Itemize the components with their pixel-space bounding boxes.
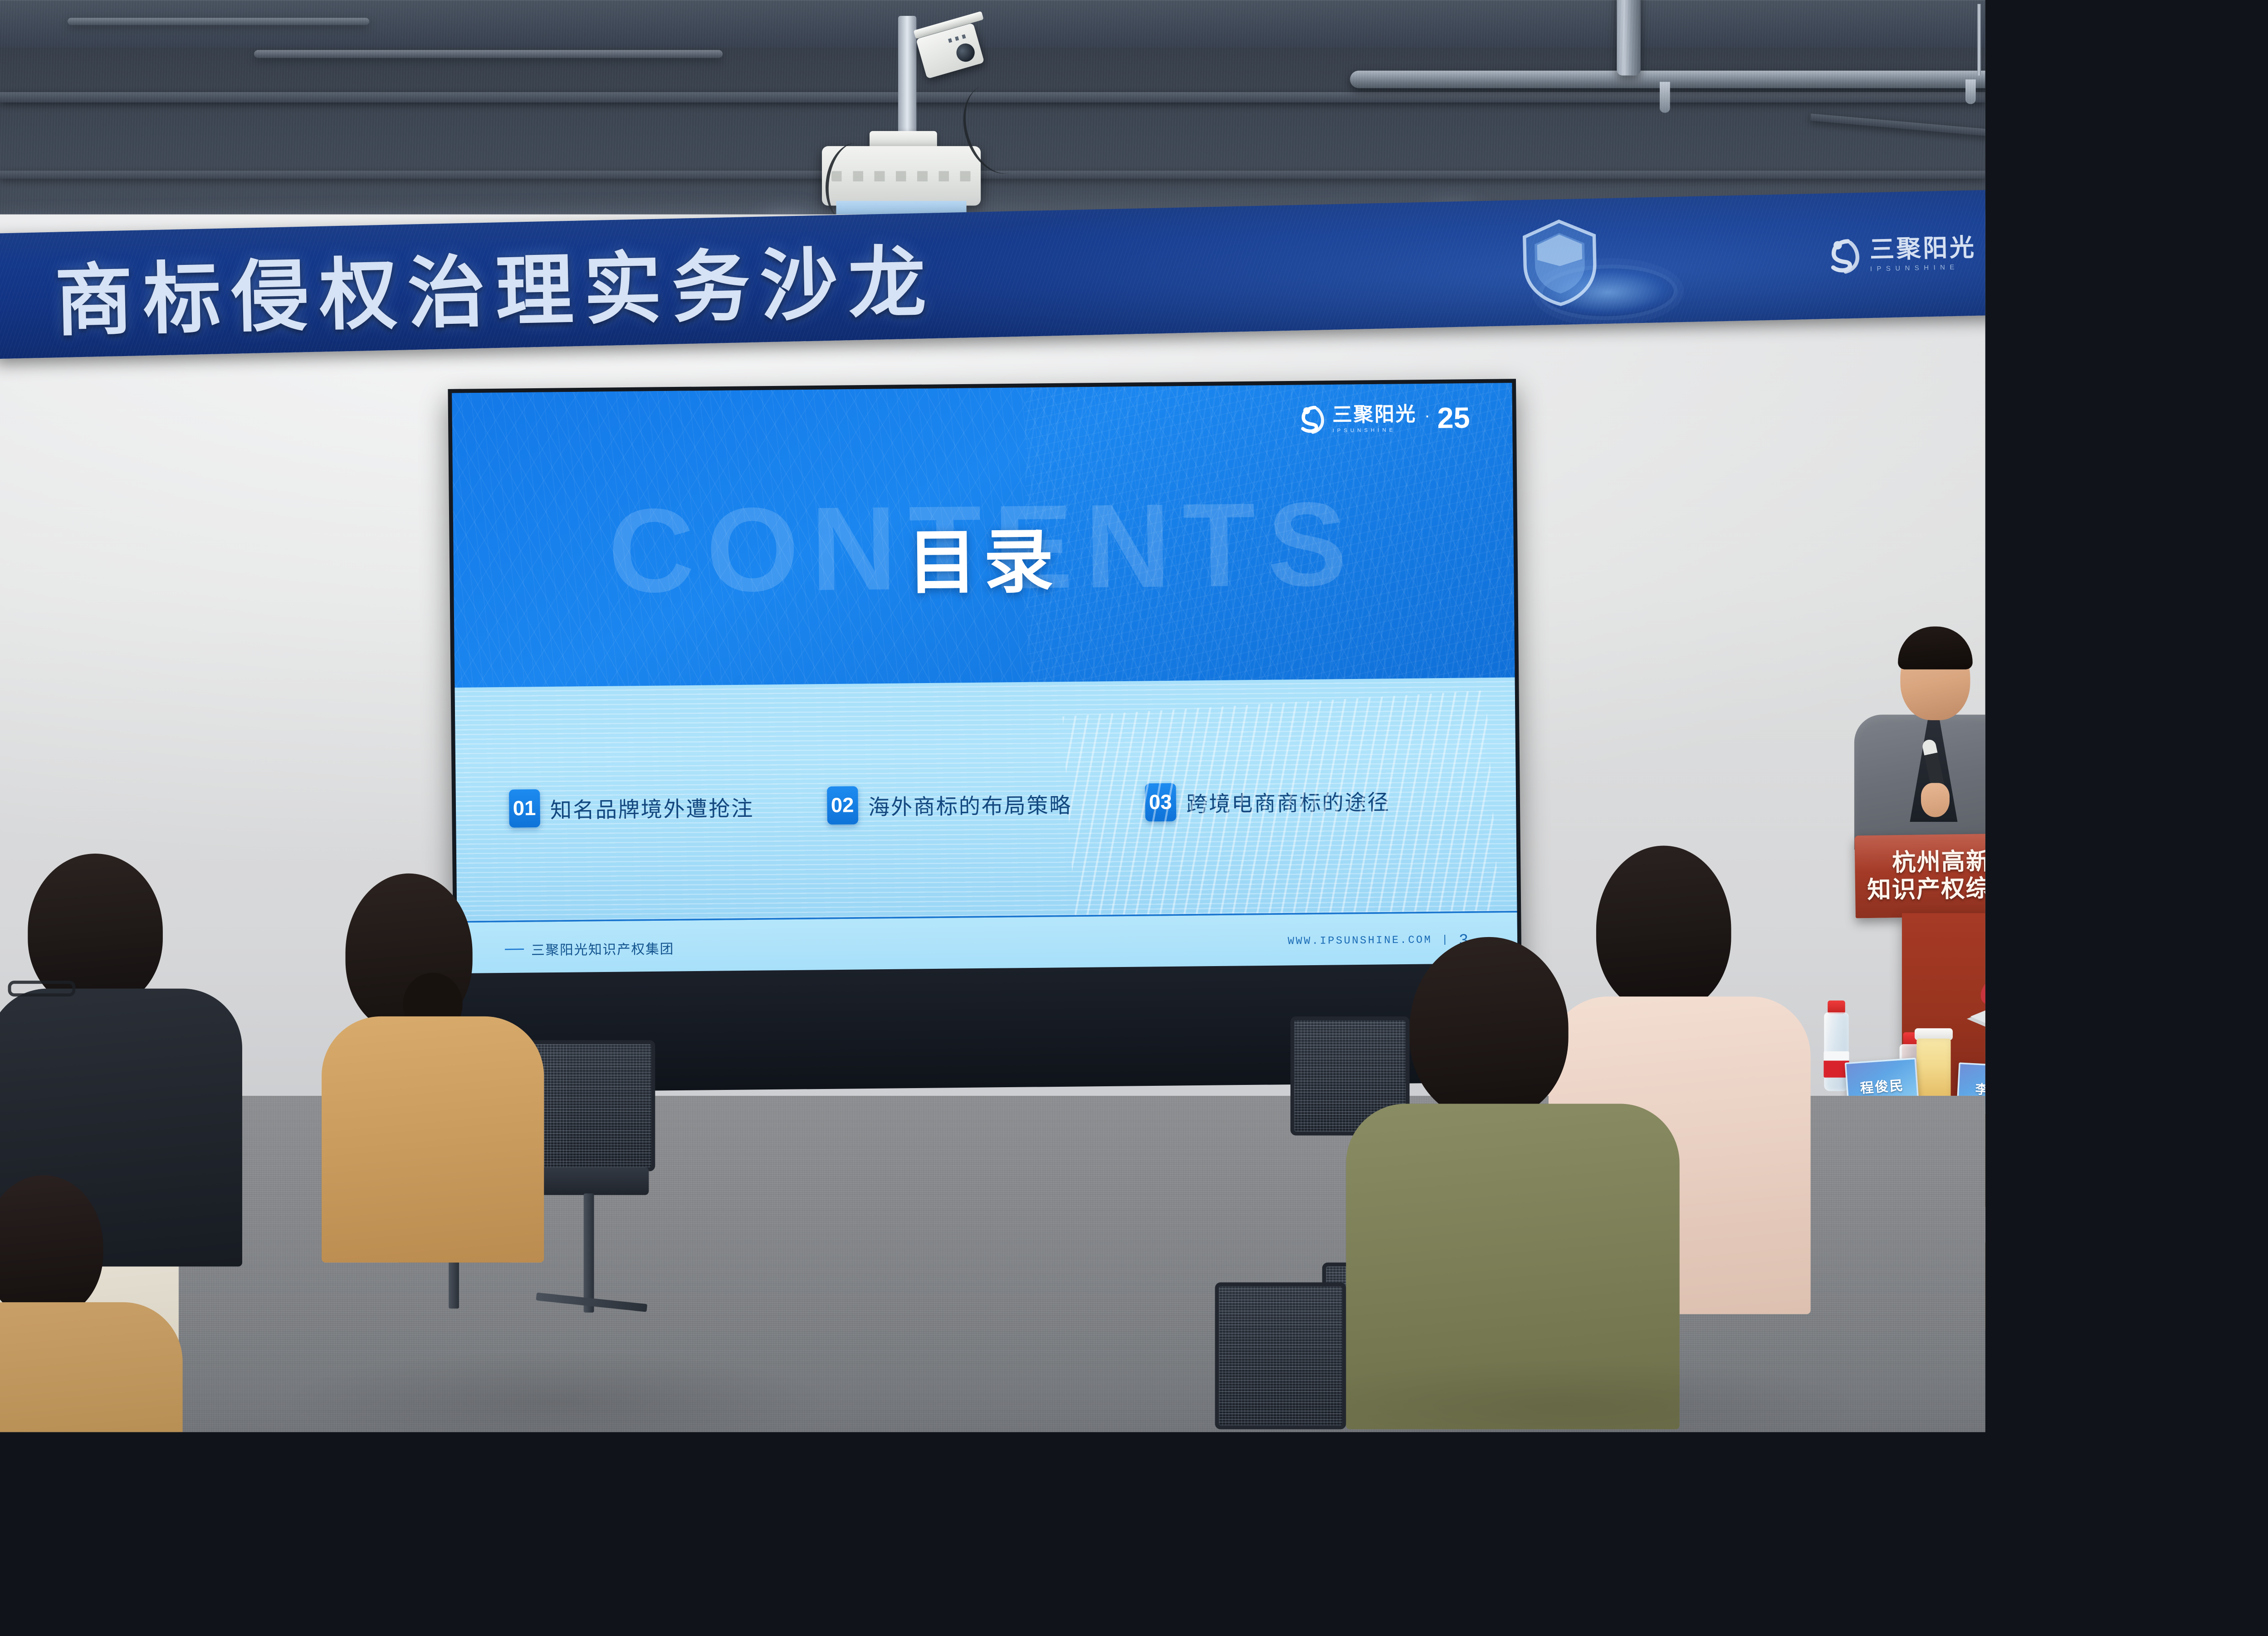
- slide-logo-en: IPSUNSHINE: [1333, 427, 1417, 434]
- podium-line-2: 知识产权综合服务中心: [1867, 873, 1985, 903]
- banner-logo-en: IPSUNSHINE: [1870, 263, 1977, 273]
- projector-mount-pole: [898, 16, 916, 147]
- slide-title: 目录: [907, 504, 1060, 607]
- slide-logo-dot: ·: [1424, 406, 1430, 425]
- toc-number: 01: [508, 789, 540, 828]
- presentation-screen: CONTENTS 目录 三聚阳光 IPSUNSHINE · 25: [448, 379, 1521, 981]
- ceiling-pipe-vertical: [1617, 0, 1641, 75]
- conference-room-photo: 商标侵权治理实务沙龙 三聚阳光 IPSUNSHINE CONTENTS 目录: [0, 0, 1985, 1432]
- banner-brand-logo: 三聚阳光 IPSUNSHINE: [1824, 234, 1977, 275]
- slide-footer-right: WWW.IPSUNSHINE.COM | 3: [1288, 931, 1470, 951]
- podium-line-1: 杭州高新区(滨江): [1867, 846, 1985, 877]
- slide-footer-left: 三聚阳光知识产权集团: [505, 938, 674, 959]
- slide-brand-logo: 三聚阳光 IPSUNSHINE · 25: [1296, 402, 1470, 435]
- ceiling-pipe: [1350, 71, 1985, 88]
- slide-header-block: CONTENTS 目录 三聚阳光 IPSUNSHINE · 25: [452, 383, 1515, 688]
- toc-number: 02: [827, 786, 858, 825]
- sprinkler-head: [1965, 79, 1976, 104]
- eyeglasses-icon: [8, 981, 76, 996]
- banner-logo-cn: 三聚阳光: [1869, 235, 1976, 262]
- banner-headline: 商标侵权治理实务沙龙: [54, 220, 937, 351]
- podium-header: 杭州高新区(滨江) 知识产权综合服务中心: [1854, 832, 1985, 918]
- shield-icon: [1517, 215, 1602, 308]
- slide-toc: 01 知名品牌境外遭抢注 02 海外商标的布局策略 03 跨境电商商标的途径: [508, 781, 1463, 828]
- toc-label: 知名品牌境外遭抢注: [550, 791, 754, 824]
- slide-footer-url: WWW.IPSUNSHINE.COM: [1288, 934, 1432, 947]
- sprinkler-head: [1660, 82, 1670, 112]
- footer-dash-icon: [505, 948, 524, 950]
- toc-item[interactable]: 03 跨境电商商标的途径: [1145, 781, 1463, 822]
- ipsunshine-mark-icon: [1296, 404, 1327, 435]
- slide-contents: CONTENTS 目录 三聚阳光 IPSUNSHINE · 25: [452, 383, 1517, 977]
- ipsunshine-mark-icon: [1824, 236, 1863, 275]
- toc-number: 03: [1145, 783, 1176, 822]
- slide-logo-cn: 三聚阳光: [1332, 404, 1417, 425]
- slide-anniversary-badge: 25: [1437, 405, 1470, 431]
- slide-body-block: 01 知名品牌境外遭抢注 02 海外商标的布局策略 03 跨境电商商标的途径: [455, 678, 1517, 921]
- toc-label: 海外商标的布局策略: [868, 787, 1072, 820]
- name-card-label: 程俊民: [1859, 1074, 1905, 1097]
- toc-item[interactable]: 02 海外商标的布局策略: [827, 783, 1145, 825]
- hhtz-torch-emblem: [1960, 975, 1985, 1031]
- slide-footer-separator: |: [1442, 934, 1450, 946]
- podium-text: 杭州高新区(滨江) 知识产权综合服务中心: [1867, 846, 1985, 904]
- toc-item[interactable]: 01 知名品牌境外遭抢注: [508, 786, 827, 828]
- slide-footer-org: 三聚阳光知识产权集团: [531, 938, 675, 959]
- speaker-hand: [1921, 783, 1950, 817]
- toc-label: 跨境电商商标的途径: [1186, 785, 1390, 818]
